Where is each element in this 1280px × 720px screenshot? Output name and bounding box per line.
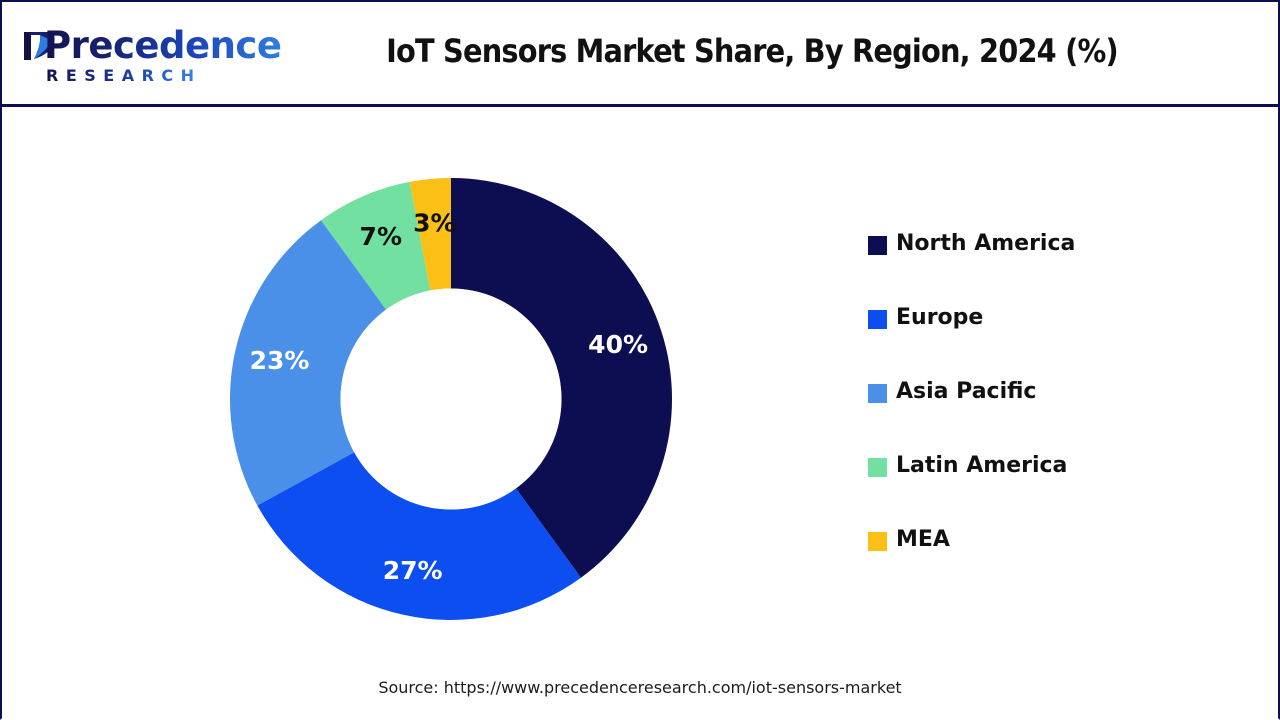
legend-swatch-icon xyxy=(868,532,887,551)
chart-frame: Precedence RESEARCH IoT Sensors Market S… xyxy=(0,0,1280,720)
donut-hole xyxy=(341,289,562,510)
legend-item[interactable]: Europe xyxy=(868,302,1198,376)
slice-value-label: 27% xyxy=(383,556,443,585)
logo-wordmark: Precedence xyxy=(44,24,281,68)
legend-swatch-icon xyxy=(868,310,887,329)
legend-swatch-icon xyxy=(868,384,887,403)
legend-item[interactable]: MEA xyxy=(868,524,1198,598)
legend-item-label: North America xyxy=(896,228,1075,260)
source-note: Source: https://www.precedenceresearch.c… xyxy=(2,678,1278,697)
donut-slices xyxy=(230,178,672,620)
legend-item-label: MEA xyxy=(896,524,950,556)
logo-subtitle: RESEARCH xyxy=(46,66,202,86)
slice-value-label: 3% xyxy=(413,208,455,237)
donut-chart: 40%27%23%7%3% xyxy=(230,178,672,620)
legend-item-label: Latin America xyxy=(896,450,1067,482)
page-title: IoT Sensors Market Share, By Region, 202… xyxy=(302,32,1202,70)
precedence-research-logo: Precedence RESEARCH xyxy=(18,24,228,90)
donut-chart-svg: 40%27%23%7%3% xyxy=(230,178,672,620)
legend-item[interactable]: Latin America xyxy=(868,450,1198,524)
slice-value-label: 7% xyxy=(360,222,402,251)
legend-item-label: Asia Pacific xyxy=(896,376,1036,408)
legend: North AmericaEuropeAsia PacificLatin Ame… xyxy=(868,228,1198,598)
legend-item[interactable]: North America xyxy=(868,228,1198,302)
legend-swatch-icon xyxy=(868,236,887,255)
chart-header: Precedence RESEARCH IoT Sensors Market S… xyxy=(2,2,1278,107)
legend-item[interactable]: Asia Pacific xyxy=(868,376,1198,450)
slice-value-label: 40% xyxy=(588,330,648,359)
legend-swatch-icon xyxy=(868,458,887,477)
slice-value-label: 23% xyxy=(250,346,310,375)
legend-item-label: Europe xyxy=(896,302,983,334)
